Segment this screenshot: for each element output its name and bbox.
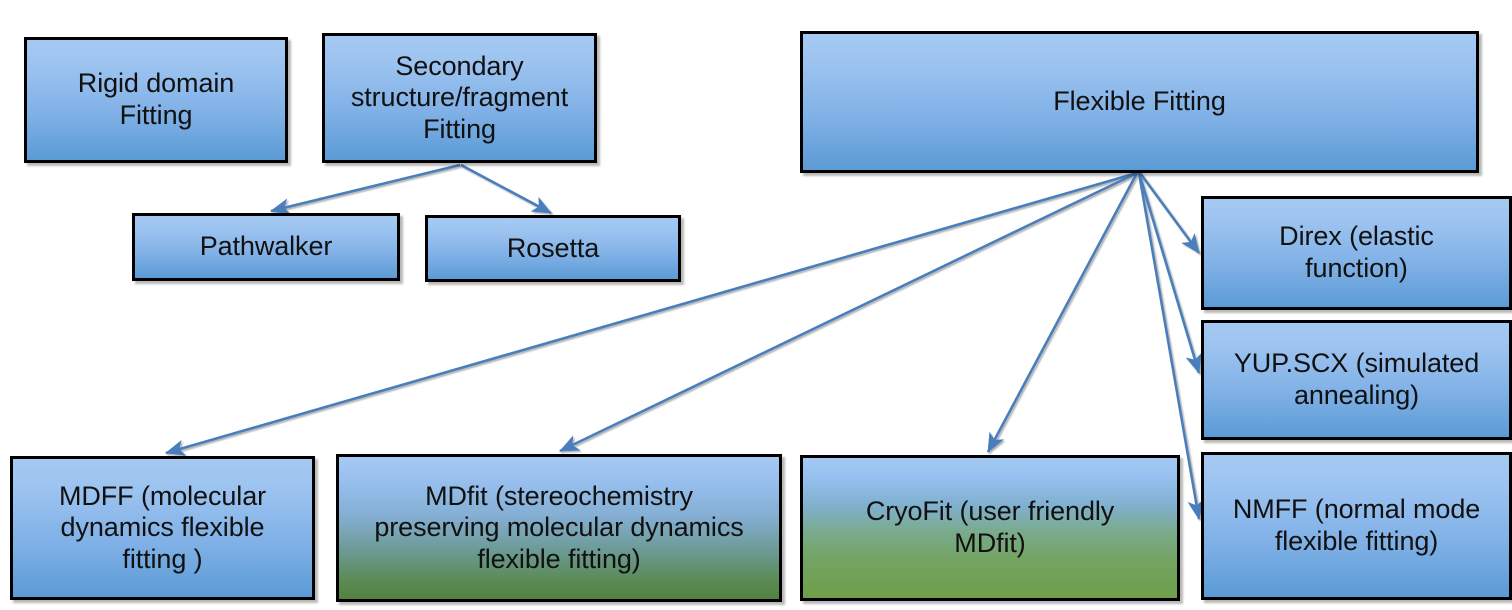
node-cryofit[interactable]: CryoFit (user friendly MDfit) (800, 455, 1180, 601)
node-label: YUP.SCX (simulated annealing) (1228, 348, 1485, 411)
node-label: Rosetta (501, 233, 605, 265)
diagram-canvas: Rigid domain Fitting Secondary structure… (0, 0, 1512, 610)
node-mdfit[interactable]: MDfit (stereochemistry preserving molecu… (336, 454, 782, 602)
node-yup-scx[interactable]: YUP.SCX (simulated annealing) (1201, 320, 1512, 440)
node-label: MDFF (molecular dynamics flexible fittin… (53, 481, 272, 576)
node-label: Secondary structure/fragment Fitting (345, 51, 574, 146)
connector-flexible-to-yupscx (1139, 173, 1199, 373)
node-pathwalker[interactable]: Pathwalker (132, 213, 400, 281)
connector-flexible-to-direx (1140, 173, 1199, 253)
node-mdff[interactable]: MDFF (molecular dynamics flexible fittin… (10, 456, 315, 600)
connector-secondary-to-pathwalker (271, 165, 460, 211)
node-label: Flexible Fitting (1047, 86, 1231, 118)
node-label: Direx (elastic function) (1273, 221, 1440, 284)
node-rosetta[interactable]: Rosetta (425, 215, 681, 282)
node-label: NMFF (normal mode flexible fitting) (1227, 494, 1486, 557)
node-flexible-fitting[interactable]: Flexible Fitting (800, 31, 1479, 173)
node-label: CryoFit (user friendly MDfit) (860, 496, 1120, 559)
node-rigid-domain-fitting[interactable]: Rigid domain Fitting (24, 37, 288, 163)
node-label: MDfit (stereochemistry preserving molecu… (368, 481, 749, 576)
connector-flexible-to-cryofit (988, 173, 1137, 452)
node-nmff[interactable]: NMFF (normal mode flexible fitting) (1201, 452, 1512, 600)
node-direx[interactable]: Direx (elastic function) (1201, 196, 1512, 310)
connector-secondary-to-rosetta (461, 165, 551, 213)
node-label: Pathwalker (194, 231, 339, 263)
node-secondary-structure-fragment-fitting[interactable]: Secondary structure/fragment Fitting (322, 33, 597, 163)
node-label: Rigid domain Fitting (72, 68, 240, 131)
